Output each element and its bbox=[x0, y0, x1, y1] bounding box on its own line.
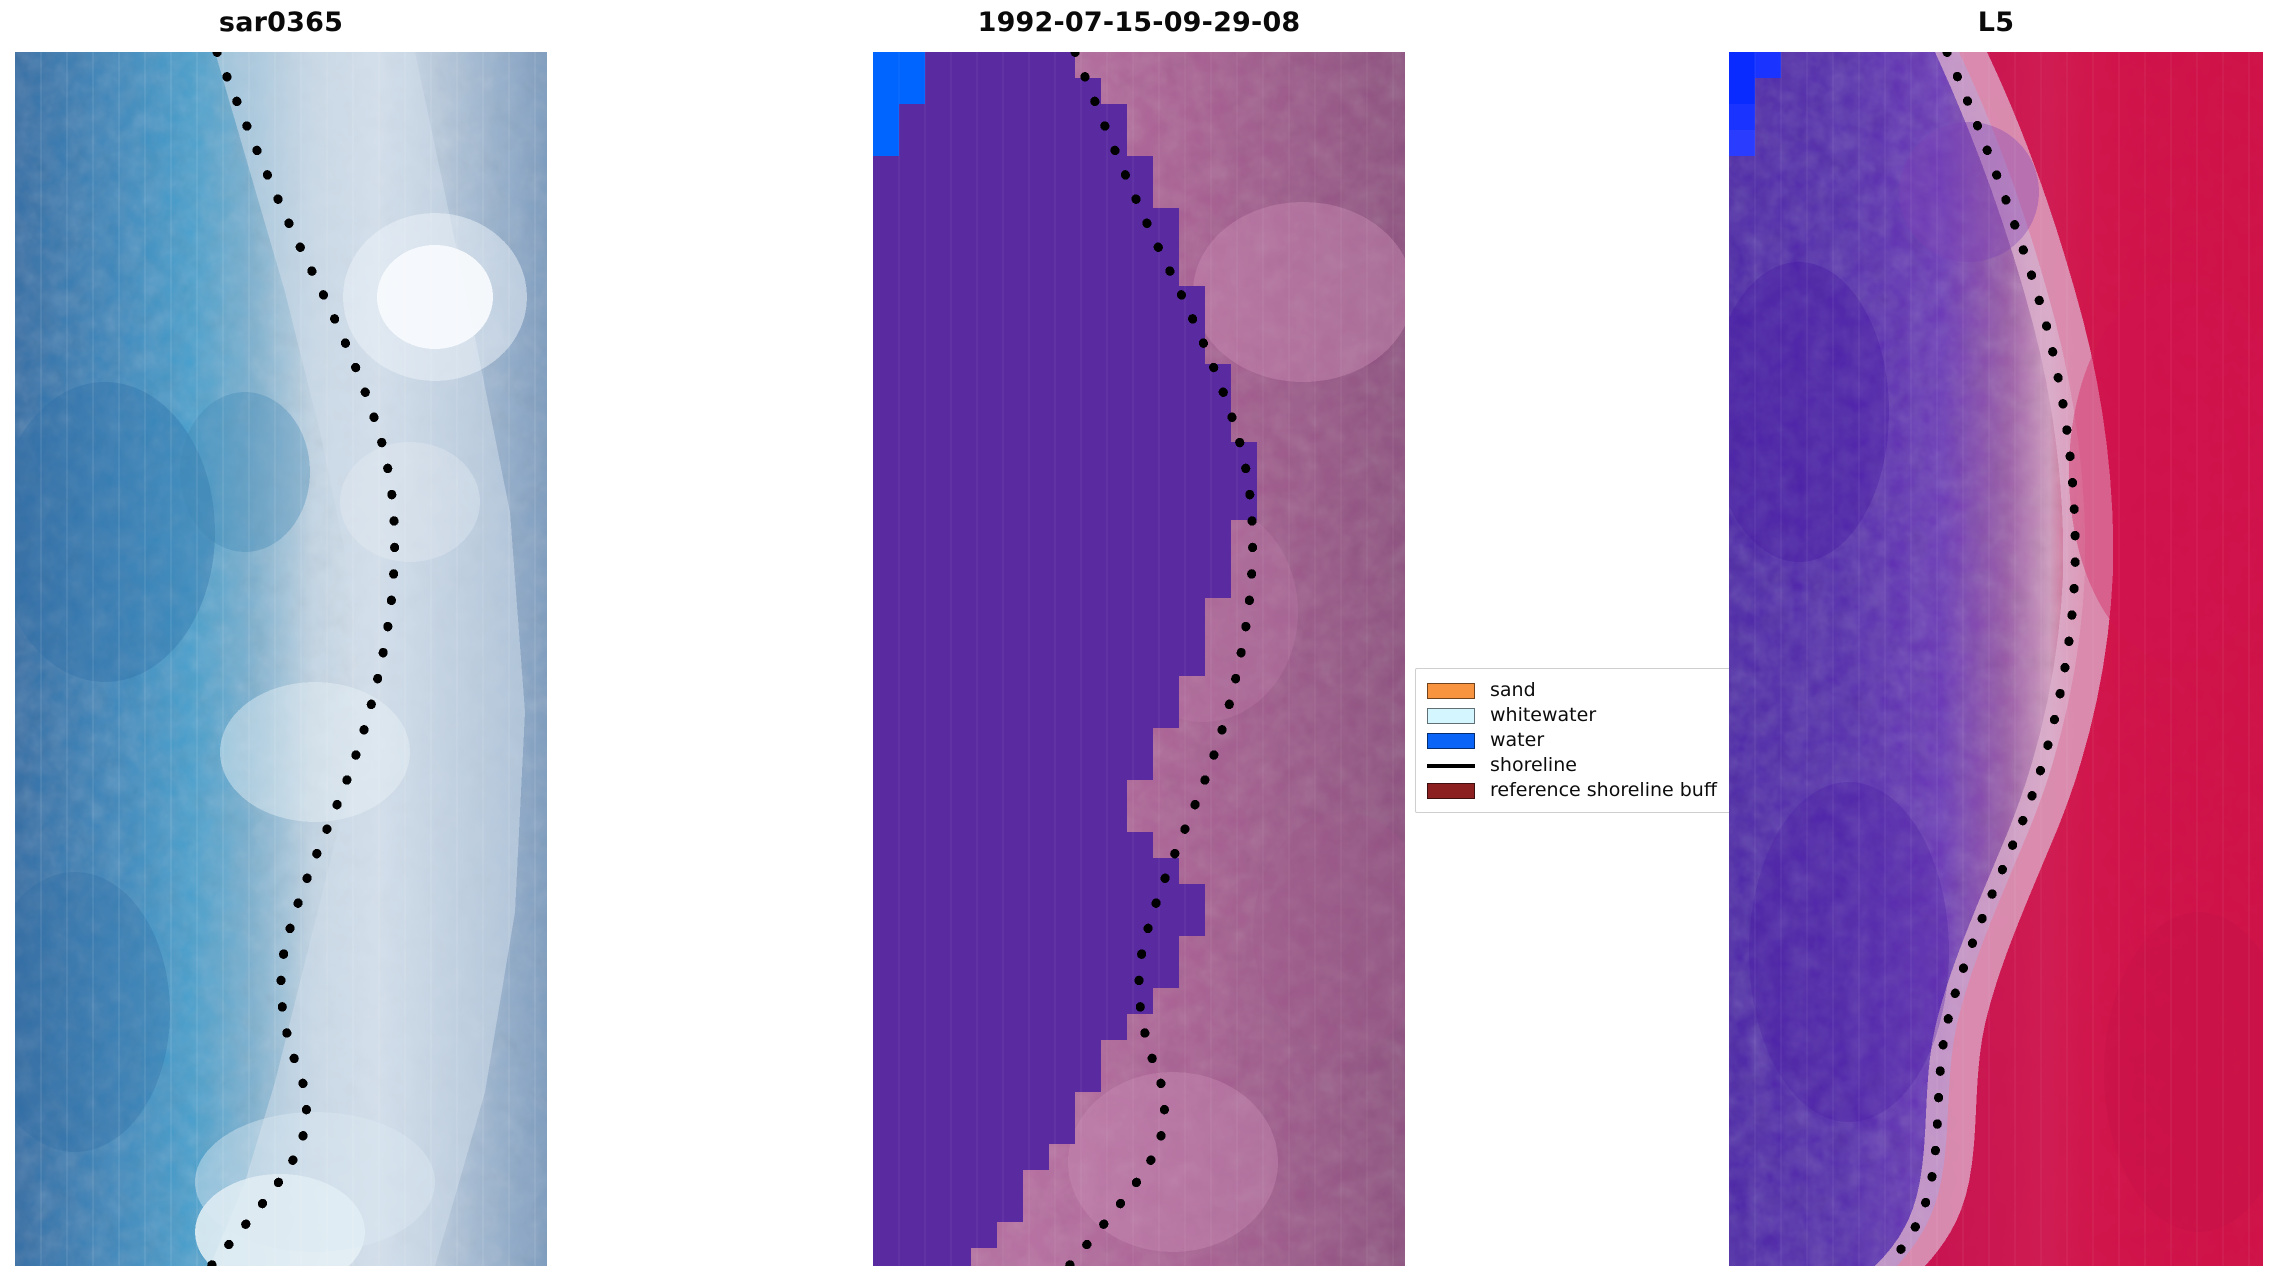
legend-item-sand[interactable]: sand bbox=[1416, 678, 1754, 703]
legend-label-water: water bbox=[1490, 731, 1544, 750]
legend-swatch-whitewater bbox=[1427, 708, 1475, 724]
legend-swatch-shoreline bbox=[1427, 764, 1475, 768]
legend-item-reference-shoreline-buffer[interactable]: reference shoreline buff bbox=[1416, 778, 1754, 803]
figure-canvas: sar0365 1992-07-15-09-29-08 L5 bbox=[0, 0, 2276, 1283]
panel-title-rgb: L5 bbox=[1729, 4, 2263, 42]
legend-item-whitewater[interactable]: whitewater bbox=[1416, 703, 1754, 728]
rgb-raster bbox=[1729, 52, 2263, 1266]
legend-item-water[interactable]: water bbox=[1416, 728, 1754, 753]
legend-swatch-sand bbox=[1427, 683, 1475, 699]
panel-title-classification: 1992-07-15-09-29-08 bbox=[873, 4, 1405, 42]
panel-classification-image[interactable] bbox=[873, 52, 1405, 1266]
legend-swatch-reference-shoreline-buffer bbox=[1427, 783, 1475, 799]
legend-box: sand whitewater water shoreline referenc… bbox=[1415, 668, 1755, 813]
legend-label-reference-shoreline-buffer: reference shoreline buff bbox=[1490, 781, 1717, 800]
sar-raster bbox=[15, 52, 547, 1266]
panel-sar-image[interactable] bbox=[15, 52, 547, 1266]
legend-label-shoreline: shoreline bbox=[1490, 756, 1577, 775]
legend-item-shoreline[interactable]: shoreline bbox=[1416, 753, 1754, 778]
panel-title-sar: sar0365 bbox=[15, 4, 547, 42]
classification-raster bbox=[873, 52, 1405, 1266]
legend-swatch-water bbox=[1427, 733, 1475, 749]
panel-rgb-image[interactable] bbox=[1729, 52, 2263, 1266]
legend-label-sand: sand bbox=[1490, 681, 1536, 700]
legend-label-whitewater: whitewater bbox=[1490, 706, 1596, 725]
